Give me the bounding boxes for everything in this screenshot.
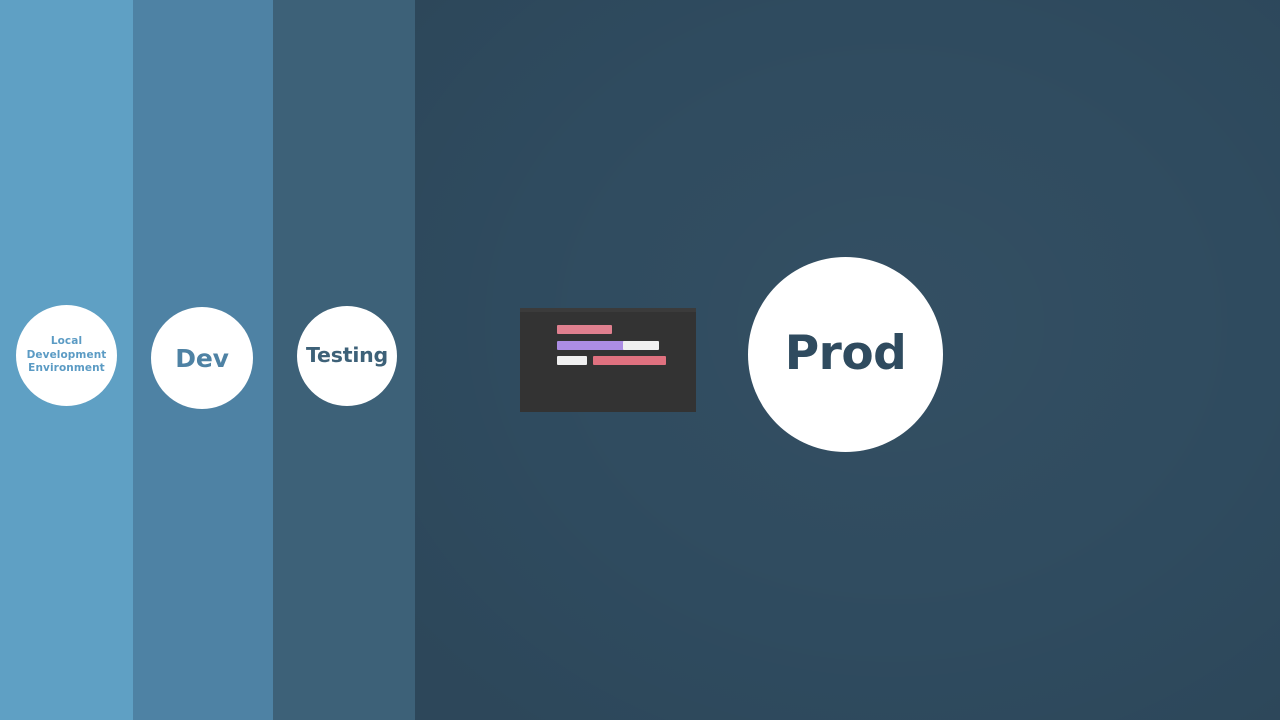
pipeline-scene: Local Development Environment Dev Testin… [0, 0, 1280, 720]
code-line-3-segment-1 [557, 356, 587, 365]
stage-node-prod-label: Prod [785, 327, 907, 382]
stage-node-prod[interactable]: Prod [748, 257, 943, 452]
stage-node-local-label: Local Development Environment [27, 335, 107, 377]
stage-node-dev[interactable]: Dev [151, 307, 253, 409]
code-line-1-segment-1 [557, 325, 612, 334]
code-line-2-segment-2 [623, 341, 659, 350]
code-panel-topbar [520, 308, 696, 312]
stage-node-dev-label: Dev [175, 344, 228, 373]
stage-node-testing[interactable]: Testing [297, 306, 397, 406]
stage-node-local[interactable]: Local Development Environment [16, 305, 117, 406]
code-line-3-segment-2 [593, 356, 666, 365]
code-panel [520, 308, 696, 412]
stage-node-testing-label: Testing [306, 344, 388, 368]
